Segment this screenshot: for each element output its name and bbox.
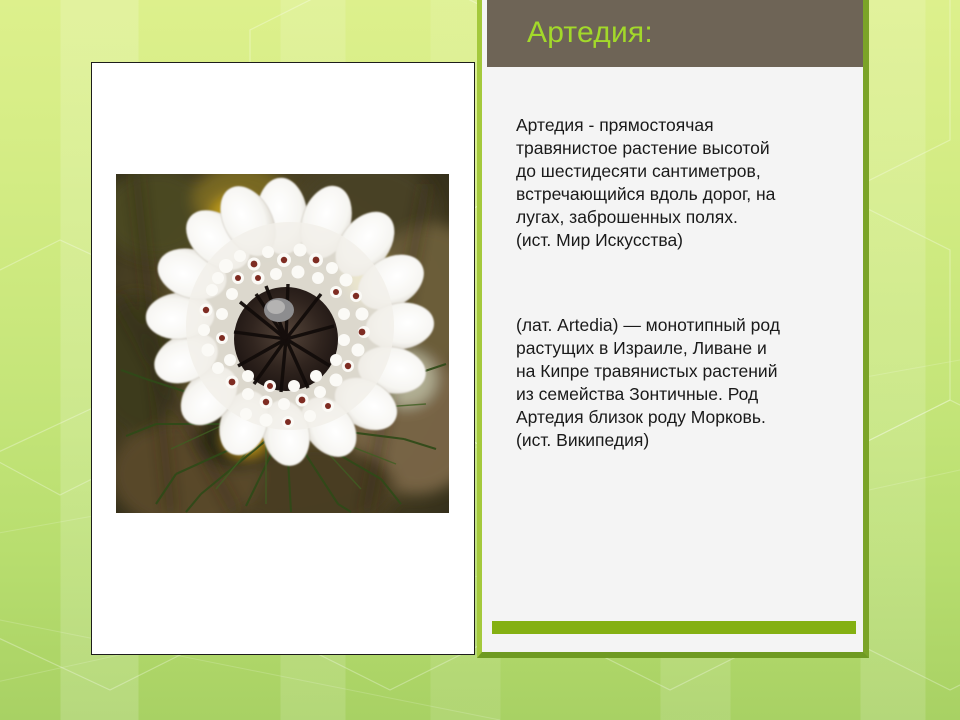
paragraph-1: Артедия - прямостоячая травянистое расте…: [516, 114, 846, 253]
paragraph-1-line-3: до шестидесяти сантиметров,: [516, 160, 846, 183]
body-text-block[interactable]: Артедия - прямостоячая травянистое расте…: [516, 114, 846, 452]
content-text-panel[interactable]: Артедия: Артедия - прямостоячая травянис…: [477, 0, 869, 658]
paragraph-2: (лат. Artedia) — монотипный род растущих…: [516, 314, 846, 453]
page-title: Артедия:: [527, 13, 653, 53]
flower-photo[interactable]: [116, 174, 449, 513]
paragraph-2-line-3: на Кипре травянистых растений: [516, 360, 846, 383]
paragraph-2-line-5: Артедия близок роду Морковь.: [516, 406, 846, 429]
paragraph-1-line-1: Артедия - прямостоячая: [516, 114, 846, 137]
paragraph-2-line-4: из семейства Зонтичные. Род: [516, 383, 846, 406]
paragraph-1-line-5: лугах, заброшенных полях.: [516, 206, 846, 229]
paragraph-1-line-2: травянистое растение высотой: [516, 137, 846, 160]
paragraph-1-source: (ист. Мир Искусства): [516, 229, 846, 252]
paragraph-2-source: (ист. Википедия): [516, 429, 846, 452]
picture-placeholder-panel[interactable]: [91, 62, 475, 655]
paragraph-1-line-4: встречающийся вдоль дорог, на: [516, 183, 846, 206]
paragraph-2-line-2: растущих в Израиле, Ливане и: [516, 337, 846, 360]
presentation-slide: Артедия: Артедия - прямостоячая травянис…: [0, 0, 960, 720]
paragraph-2-line-1: (лат. Artedia) — монотипный род: [516, 314, 846, 337]
flower-photo-graphic: [116, 174, 449, 513]
bottom-accent-bar: [492, 621, 856, 634]
